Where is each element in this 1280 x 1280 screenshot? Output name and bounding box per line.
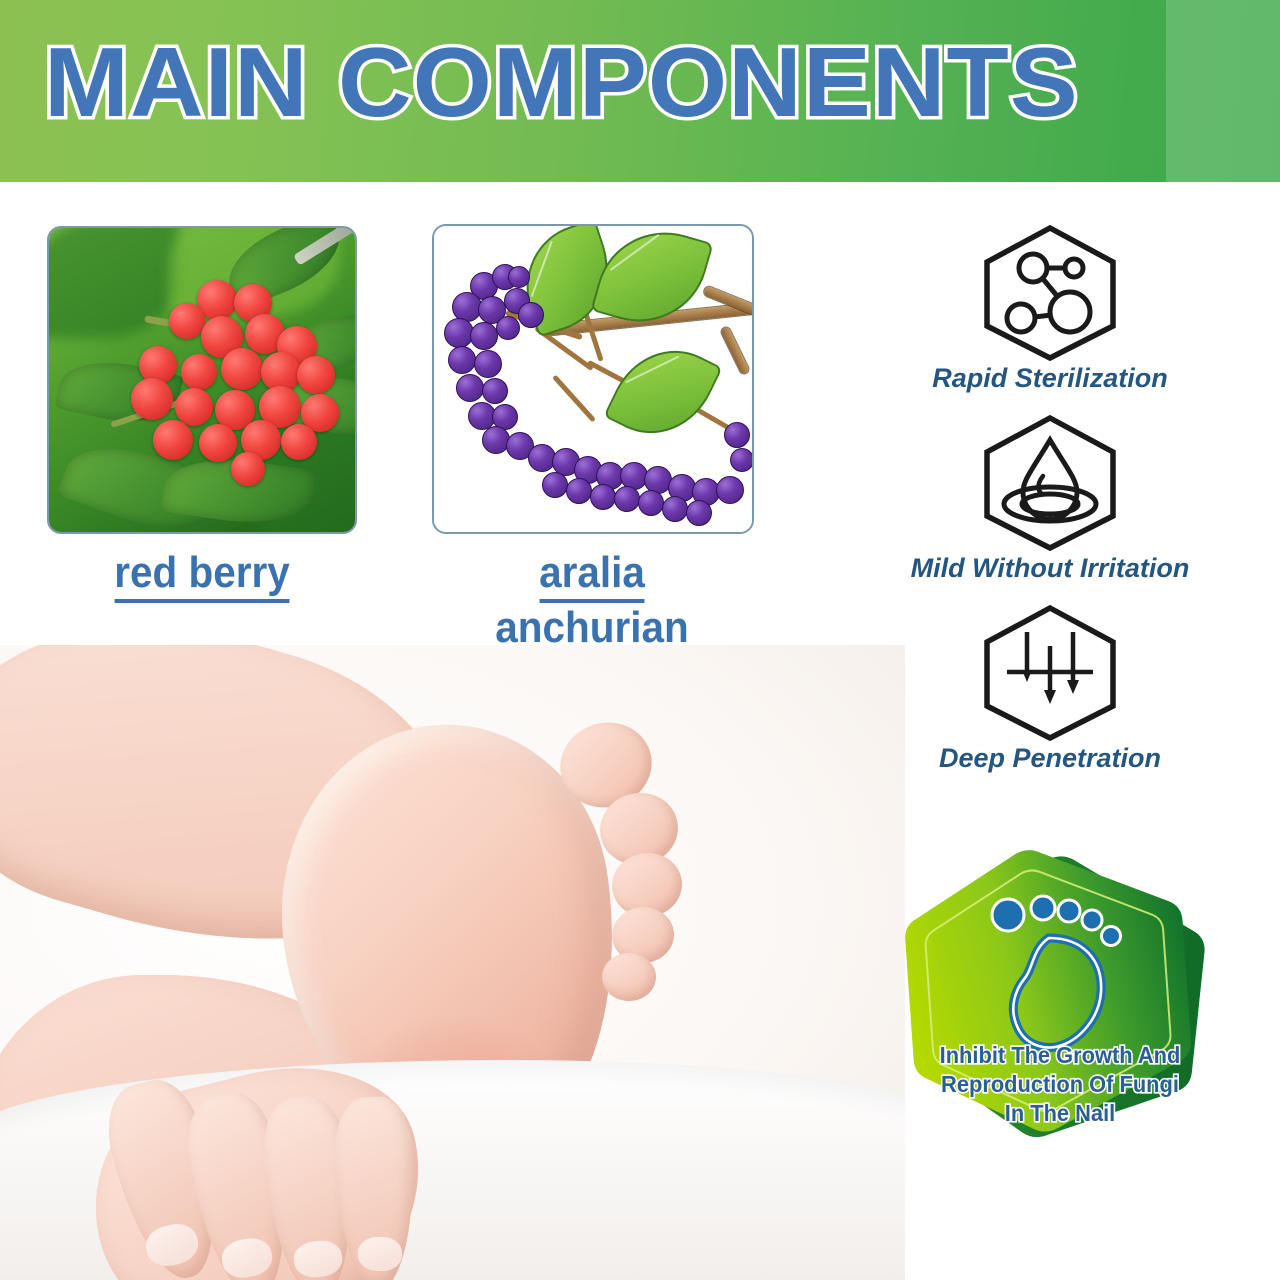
feet-photo <box>0 645 905 1280</box>
badge-text: Inhibit The Growth And Reproduction Of F… <box>903 1041 1217 1128</box>
header-stripe-1 <box>1166 0 1194 182</box>
page-title: MAIN COMPONENTS <box>44 22 1079 142</box>
benefit-label: Rapid Sterilization <box>905 362 1195 394</box>
aralia-image-frame <box>432 224 754 534</box>
ingredient-label-aralia: aralia anchurian <box>426 548 757 658</box>
toe-5 <box>602 953 656 1001</box>
molecule-icon <box>975 222 1125 362</box>
benefit-rapid-sterilization: Rapid Sterilization <box>905 222 1195 394</box>
badge-text-line1: Inhibit The Growth And <box>903 1041 1217 1070</box>
water-drop-icon <box>975 412 1125 552</box>
badge-text-line3: In The Nail <box>903 1099 1217 1128</box>
header-stripe-2 <box>1194 0 1242 182</box>
badge-text-line2: Reproduction Of Fungi <box>903 1070 1217 1099</box>
red-berry-image-frame <box>47 226 357 534</box>
ingredient-label-text: red berry <box>114 548 290 603</box>
benefit-label: Mild Without Irritation <box>905 552 1195 584</box>
ingredient-label-red-berry: red berry <box>59 548 344 603</box>
aralia-illustration <box>434 226 752 532</box>
fingernail-4 <box>358 1237 402 1271</box>
benefit-label: Deep Penetration <box>905 742 1195 774</box>
red-berry-photo <box>49 228 355 532</box>
benefit-deep-penetration: Deep Penetration <box>905 602 1195 774</box>
benefit-mild-without-irritation: Mild Without Irritation <box>905 412 1195 584</box>
ingredient-label-text-line1: aralia <box>539 548 645 603</box>
header-banner: MAIN COMPONENTS <box>0 0 1280 182</box>
fungi-badge: Inhibit The Growth And Reproduction Of F… <box>895 840 1225 1160</box>
header-stripe-3 <box>1242 0 1280 182</box>
down-arrows-icon <box>975 602 1125 742</box>
